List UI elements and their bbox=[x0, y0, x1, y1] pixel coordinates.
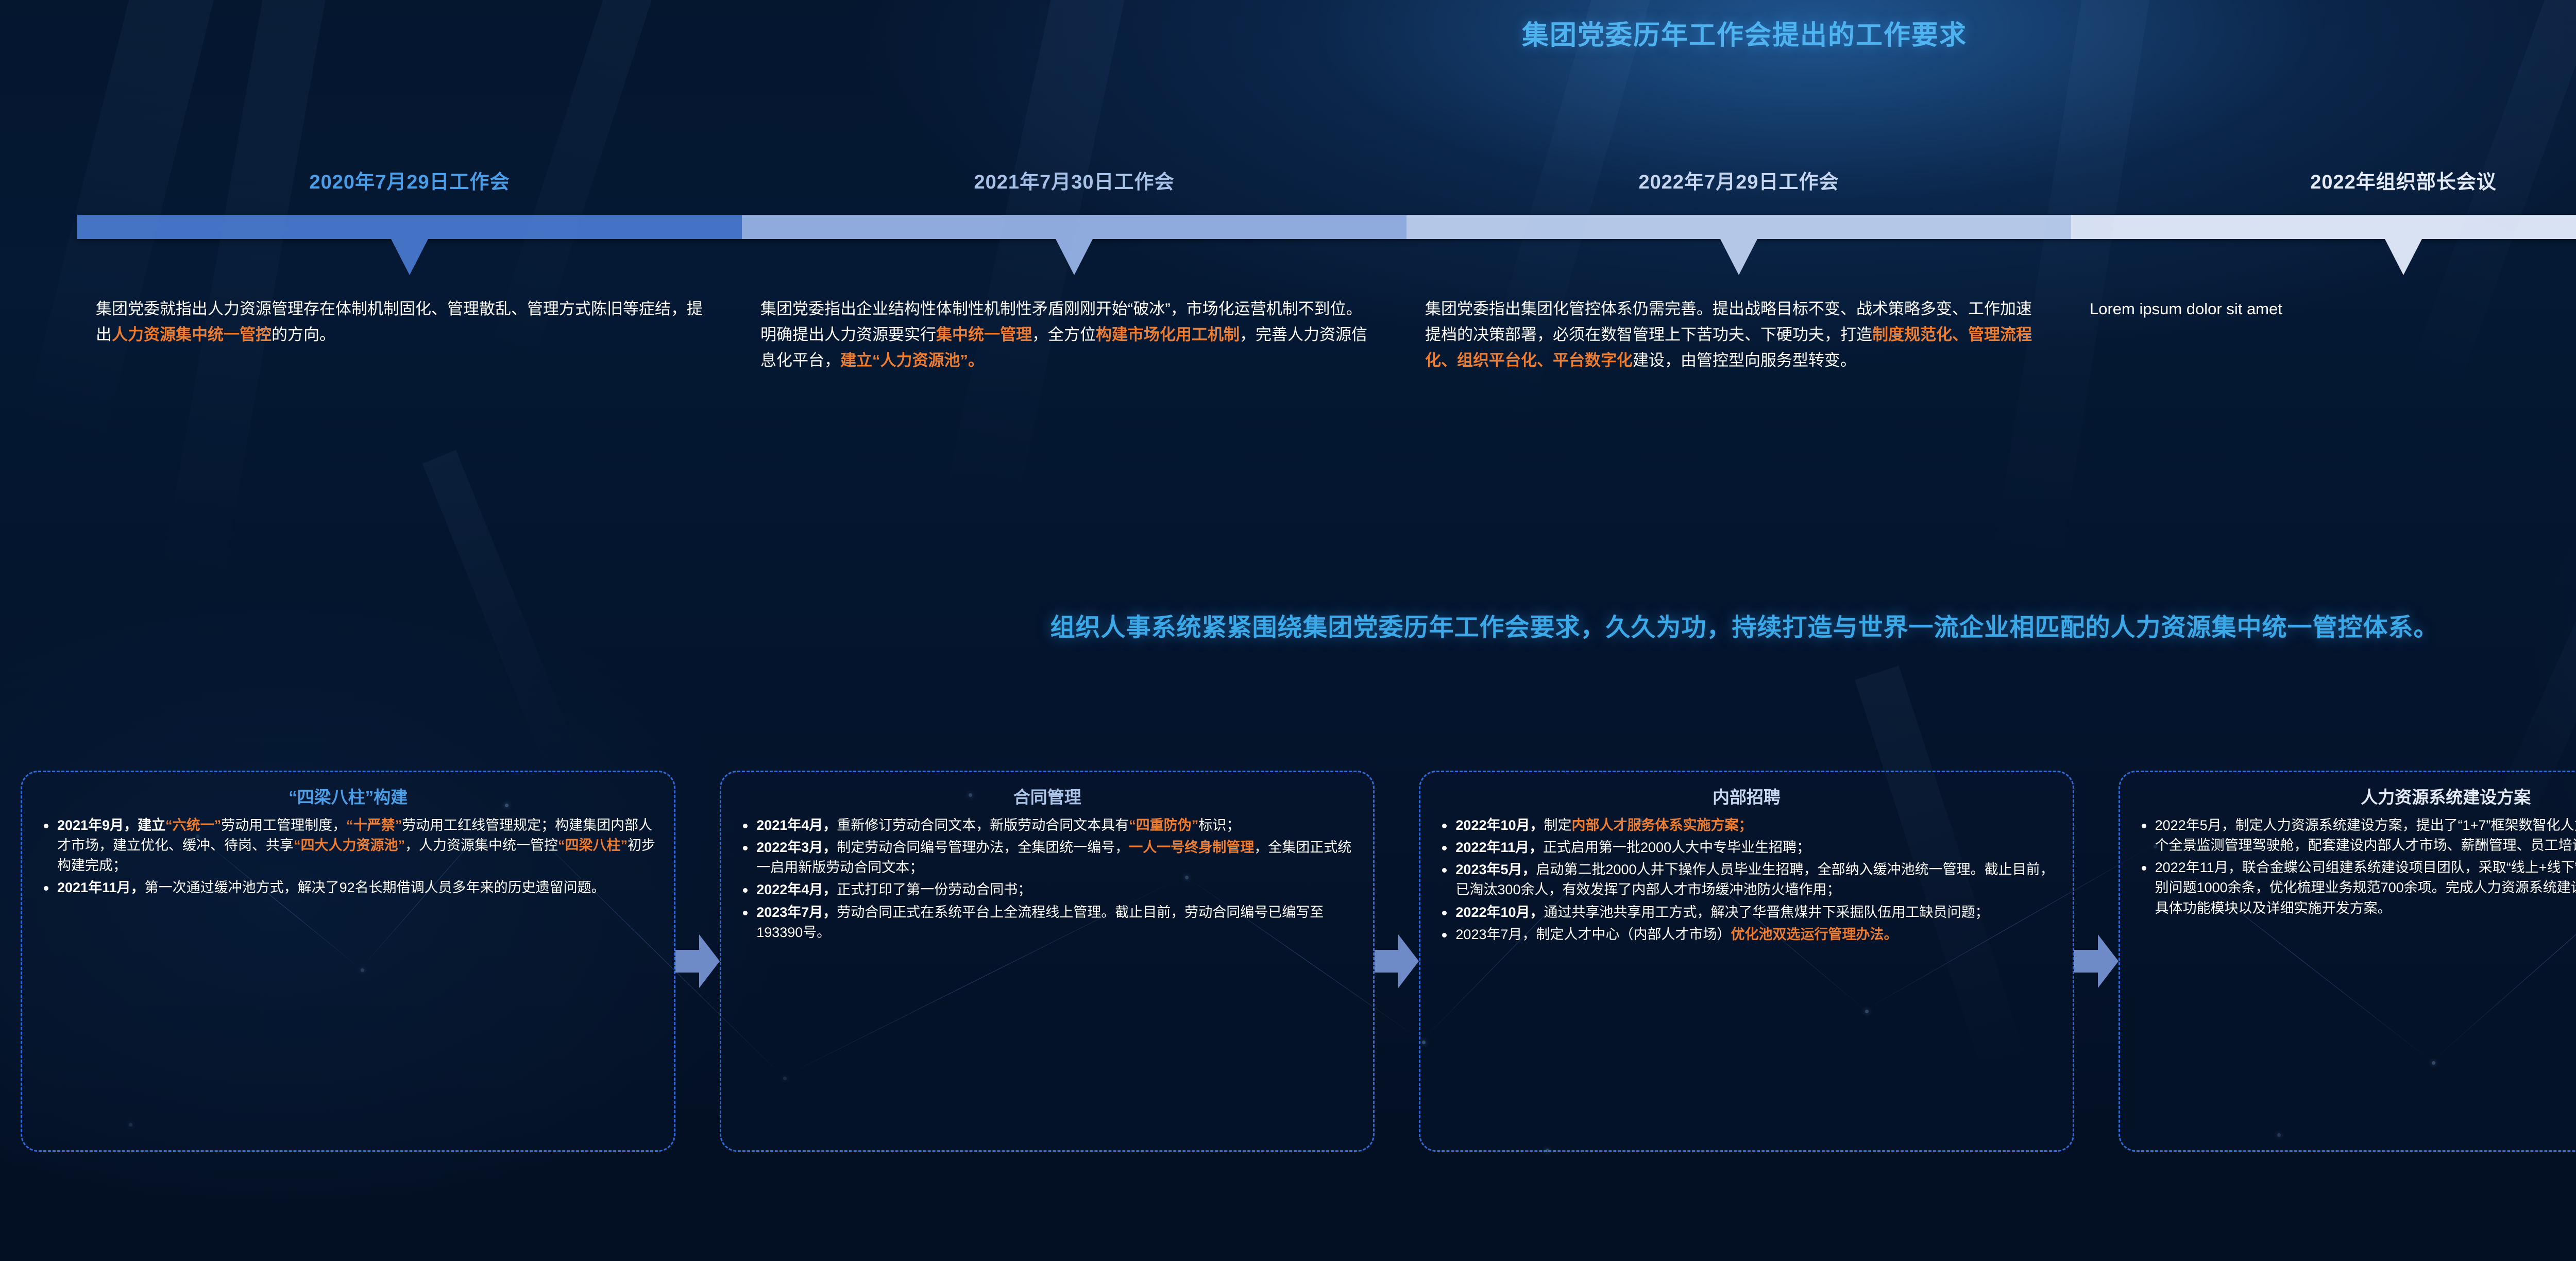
timeline-description-1: 集团党委就指出人力资源管理存在体制机制固化、管理散乱、管理方式陈旧等症结，提出人… bbox=[77, 296, 742, 400]
timeline-segment-3[interactable] bbox=[1406, 215, 2071, 239]
card-title-1: “四梁八柱”构建 bbox=[40, 783, 656, 808]
summary-banner: 组织人事系统紧紧围绕集团党委历年工作会要求，久久为功，持续打造与世界一流企业相匹… bbox=[0, 607, 2576, 643]
arrow-right-icon bbox=[1375, 930, 1419, 992]
list-item: 2021年9月，建立“六统一”劳动用工管理制度，“十严禁”劳动用工红线管理规定；… bbox=[40, 815, 656, 876]
card-4[interactable]: 人力资源系统建设方案2022年5月，制定人力资源系统建设方案，提出了“1+7”框… bbox=[2119, 771, 2576, 1152]
timeline-description-2: 集团党委指出企业结构性体制性机制性矛盾刚刚开始“破冰”，市场化运营机制不到位。明… bbox=[742, 296, 1406, 400]
list-item: 2022年4月，正式打印了第一份劳动合同书； bbox=[739, 880, 1355, 900]
timeline-pointer-icon bbox=[1720, 239, 1757, 275]
list-item: 2023年7月，制定人才中心（内部人才市场）优化池双选运行管理办法。 bbox=[1438, 925, 2055, 945]
list-item: 2021年11月，第一次通过缓冲池方式，解决了92名长期借调人员多年来的历史遗留… bbox=[40, 878, 656, 898]
card-list-4: 2022年5月，制定人力资源系统建设方案，提出了“1+7”框架数智化人力资源系统… bbox=[2138, 815, 2576, 918]
card-title-4: 人力资源系统建设方案 bbox=[2138, 783, 2576, 808]
timeline-segment-2[interactable] bbox=[742, 215, 1406, 239]
timeline-segment-1[interactable] bbox=[77, 215, 742, 239]
timeline-description-4: Lorem ipsum dolor sit amet bbox=[2071, 296, 2576, 400]
arrow-right-icon bbox=[2074, 930, 2119, 992]
arrow-right-icon bbox=[675, 930, 720, 992]
list-item: 2022年10月，制定内部人才服务体系实施方案； bbox=[1438, 815, 2055, 836]
timeline-pointer-icon bbox=[2385, 239, 2422, 275]
timeline-descriptions: 集团党委就指出人力资源管理存在体制机制固化、管理散乱、管理方式陈旧等症结，提出人… bbox=[77, 296, 2576, 400]
list-item: 2023年5月，启动第二批2000人井下操作人员毕业生招聘，全部纳入缓冲池统一管… bbox=[1438, 860, 2055, 900]
timeline-label-2: 2021年7月30日工作会 bbox=[742, 166, 1406, 197]
card-title-3: 内部招聘 bbox=[1438, 783, 2055, 808]
card-list-1: 2021年9月，建立“六统一”劳动用工管理制度，“十严禁”劳动用工红线管理规定；… bbox=[40, 815, 656, 898]
card-3[interactable]: 内部招聘2022年10月，制定内部人才服务体系实施方案；2022年11月，正式启… bbox=[1419, 771, 2074, 1152]
card-2[interactable]: 合同管理2021年4月，重新修订劳动合同文本，新版劳动合同文本具有“四重防伪”标… bbox=[720, 771, 1375, 1152]
list-item: 2022年11月，正式启用第一批2000人大中专毕业生招聘； bbox=[1438, 838, 2055, 858]
timeline-bar bbox=[77, 215, 2576, 239]
timeline-labels: 2020年7月29日工作会2021年7月30日工作会2022年7月29日工作会2… bbox=[77, 166, 2576, 197]
list-item: 2022年10月，通过共享池共享用工方式，解决了华晋焦煤井下采掘队伍用工缺员问题… bbox=[1438, 902, 2055, 923]
page-title: 集团党委历年工作会提出的工作要求 bbox=[0, 13, 2576, 52]
list-item: 2021年4月，重新修订劳动合同文本，新版劳动合同文本具有“四重防伪”标识； bbox=[739, 815, 1355, 836]
list-item: 2023年7月，劳动合同正式在系统平台上全流程线上管理。截止目前，劳动合同编号已… bbox=[739, 902, 1355, 943]
list-item: 2022年3月，制定劳动合同编号管理办法，全集团统一编号，一人一号终身制管理，全… bbox=[739, 838, 1355, 878]
list-item: 2022年11月，联合金蝶公司组建系统建设项目团队，采取“线上+线下”方式开展调… bbox=[2138, 858, 2576, 918]
card-1[interactable]: “四梁八柱”构建2021年9月，建立“六统一”劳动用工管理制度，“十严禁”劳动用… bbox=[21, 771, 675, 1152]
card-title-2: 合同管理 bbox=[739, 783, 1355, 808]
card-list-3: 2022年10月，制定内部人才服务体系实施方案；2022年11月，正式启用第一批… bbox=[1438, 815, 2055, 945]
timeline-label-3: 2022年7月29日工作会 bbox=[1406, 166, 2071, 197]
timeline-label-4: 2022年组织部长会议 bbox=[2071, 166, 2576, 197]
list-item: 2022年5月，制定人力资源系统建设方案，提出了“1+7”框架数智化人力资源系统… bbox=[2138, 815, 2576, 856]
card-list-2: 2021年4月，重新修订劳动合同文本，新版劳动合同文本具有“四重防伪”标识；20… bbox=[739, 815, 1355, 943]
timeline-segment-4[interactable] bbox=[2071, 215, 2576, 239]
timeline-description-3: 集团党委指出集团化管控体系仍需完善。提出战略目标不变、战术策略多变、工作加速提档… bbox=[1406, 296, 2071, 400]
timeline-label-1: 2020年7月29日工作会 bbox=[77, 166, 742, 197]
initiative-cards: “四梁八柱”构建2021年9月，建立“六统一”劳动用工管理制度，“十严禁”劳动用… bbox=[21, 771, 2576, 1152]
timeline-pointer-icon bbox=[1056, 239, 1093, 275]
slide-canvas: 集团党委历年工作会提出的工作要求 2020年7月29日工作会2021年7月30日… bbox=[0, 0, 2576, 1261]
timeline-pointer-icon bbox=[391, 239, 428, 275]
